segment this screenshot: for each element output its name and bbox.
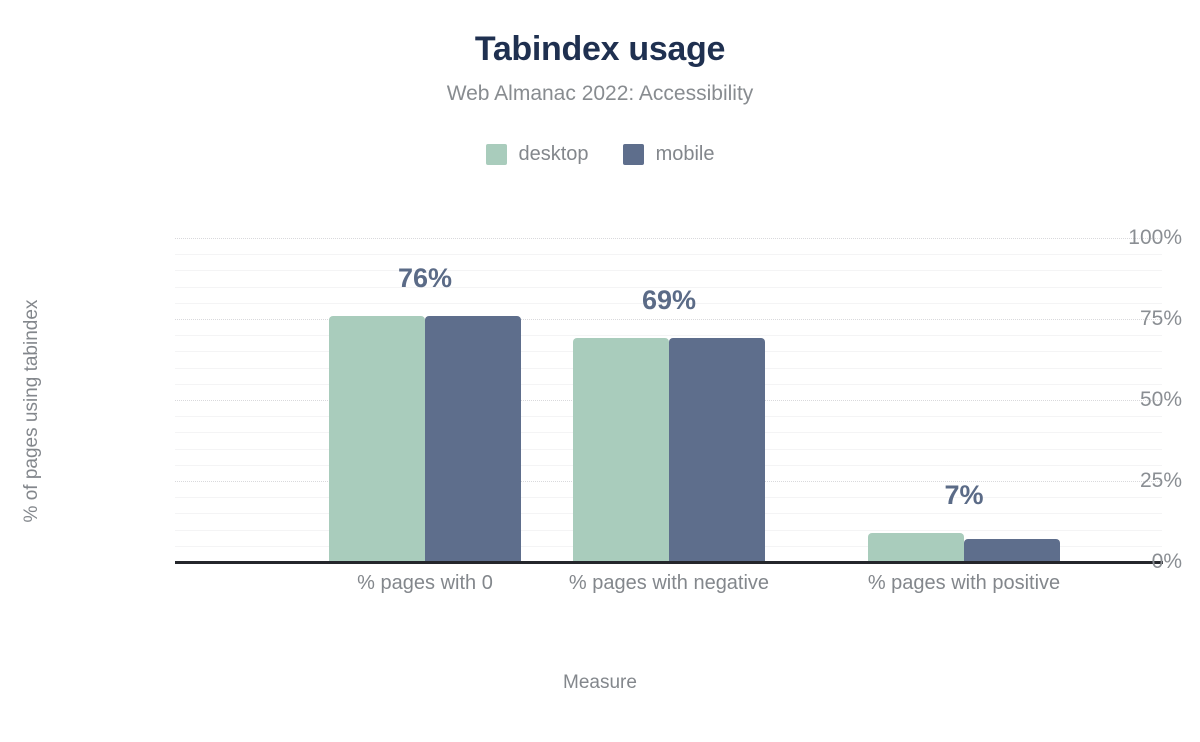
x-axis-title: Measure xyxy=(0,672,1200,694)
gridline-minor xyxy=(175,254,1162,255)
y-axis: % of pages using tabindex xyxy=(0,0,163,742)
data-label: 69% xyxy=(642,285,696,316)
gridline-minor xyxy=(175,335,1162,336)
x-axis-baseline xyxy=(175,561,1163,564)
y-tick-label: 75% xyxy=(1019,307,1200,331)
data-label: 76% xyxy=(398,263,452,294)
x-tick-label: % pages with negative xyxy=(569,572,769,595)
x-tick-label: % pages with 0 xyxy=(357,572,493,595)
bar-mobile-1[interactable] xyxy=(669,338,765,562)
x-tick-label: % pages with positive xyxy=(868,572,1060,595)
gridline-minor xyxy=(175,270,1162,271)
chart-plot: % of pages using tabindex 0%25%50%75%100… xyxy=(0,0,1200,742)
y-tick-label: 25% xyxy=(1019,469,1200,493)
bar-desktop-0[interactable] xyxy=(329,316,425,562)
y-tick-label: 50% xyxy=(1019,388,1200,412)
y-tick-label: 0% xyxy=(1019,550,1200,574)
y-tick-label: 100% xyxy=(1019,226,1200,250)
data-label: 7% xyxy=(944,480,983,511)
bar-mobile-0[interactable] xyxy=(425,316,521,562)
y-axis-title: % of pages using tabindex xyxy=(21,161,43,661)
gridline-major xyxy=(175,238,1162,239)
bar-desktop-2[interactable] xyxy=(868,533,964,562)
bar-desktop-1[interactable] xyxy=(573,338,669,562)
gridline-major xyxy=(175,319,1162,320)
